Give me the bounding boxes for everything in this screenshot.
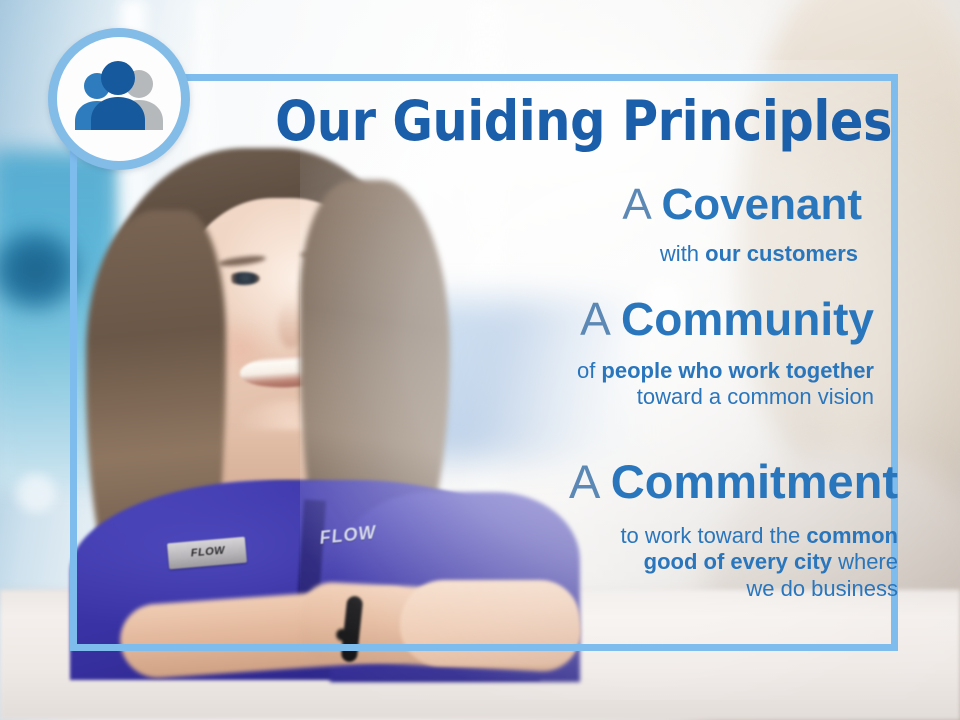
- subject-clasped-hands: [400, 580, 580, 666]
- banner-canvas: FLOW FLOW Our Guiding P: [0, 0, 960, 720]
- bokeh-highlight: [636, 272, 694, 330]
- people-group-badge: [48, 28, 190, 170]
- display-car-blur: [0, 215, 96, 325]
- bokeh-highlight: [700, 300, 740, 340]
- people-group-icon: [67, 60, 171, 138]
- subject-eye-left: [228, 272, 260, 285]
- display-brand-logo-blur: [6, 470, 66, 516]
